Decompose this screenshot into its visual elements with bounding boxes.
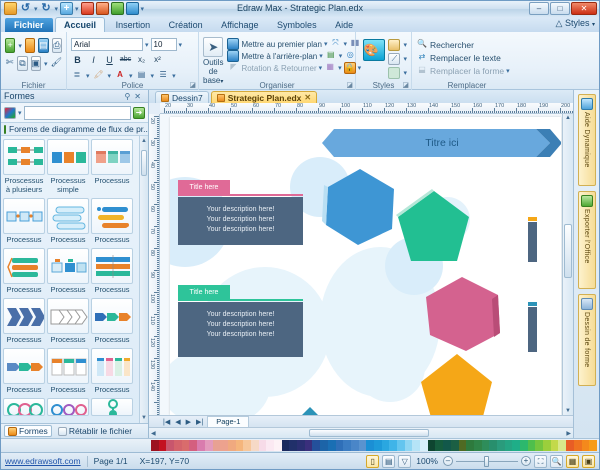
ruler-tick (496, 111, 497, 114)
color-swatch[interactable] (412, 440, 420, 451)
shape-item[interactable]: Proscessus à plusieurs (3, 139, 45, 196)
ruler-tick (454, 111, 455, 114)
ruler-tick (348, 111, 349, 114)
color-swatch[interactable] (351, 440, 359, 451)
color-swatch[interactable] (328, 440, 336, 451)
shape-item[interactable]: Processus (91, 139, 133, 196)
color-swatch[interactable] (174, 440, 182, 451)
color-swatch[interactable] (366, 440, 374, 451)
ruler-tick (306, 111, 307, 114)
shape-item[interactable] (91, 398, 133, 416)
line-style-icon[interactable]: ⟋ (388, 53, 400, 65)
bullets-caret-icon[interactable]: ▾ (172, 72, 176, 80)
ruler-tick (360, 111, 361, 114)
color-swatch[interactable] (482, 440, 490, 451)
color-swatch[interactable] (551, 440, 559, 451)
page-last-button[interactable]: ▶| (195, 418, 204, 426)
align-caret-icon[interactable]: ▾ (151, 72, 155, 80)
color-swatch[interactable] (236, 440, 244, 451)
ruler-label: 50 (149, 184, 155, 190)
send-to-back-item[interactable]: Mettre à l'arrière-plan ▾ ▤ ▾ ◎ (227, 50, 366, 62)
color-swatch[interactable] (589, 440, 597, 451)
group-icon[interactable]: ▤ (325, 50, 337, 62)
color-swatch[interactable] (428, 440, 436, 451)
ruler-tick (268, 111, 269, 114)
highlight-caret-icon[interactable]: ▾ (108, 72, 112, 80)
bold-button[interactable]: B (71, 54, 84, 67)
color-swatch[interactable] (374, 440, 382, 451)
save-file-icon[interactable]: ▤ (38, 38, 49, 53)
remplacer-forme-item[interactable]: ⬓ Remplacer la forme ▾ (416, 64, 518, 77)
ruler-label: 170 (495, 103, 504, 109)
grid-caret-icon[interactable]: ▾ (338, 64, 342, 72)
ruler-tick (157, 414, 160, 415)
ruler-label: 130 (407, 103, 416, 109)
ruler-tick (157, 170, 160, 171)
color-swatch[interactable] (336, 440, 344, 451)
zoom-in-button[interactable]: + (521, 456, 531, 466)
color-swatch[interactable] (305, 440, 313, 451)
remplacer-forme-caret-icon[interactable]: ▾ (506, 67, 510, 75)
color-swatch[interactable] (243, 440, 251, 451)
shape-item[interactable]: Processus (3, 198, 45, 246)
shape-label: Processus (3, 285, 45, 294)
color-swatch[interactable] (512, 440, 520, 451)
zoom-out-button[interactable]: – (443, 456, 453, 466)
color-swatch[interactable] (213, 440, 221, 451)
right-tab-aide-dynamique[interactable]: Aide Dynamique (578, 94, 596, 186)
ruler-tick (226, 111, 227, 114)
group-label-organiser: Organiser (199, 81, 355, 90)
color-swatch[interactable] (205, 440, 213, 451)
ruler-tick (432, 111, 433, 114)
ruler-tick (202, 111, 203, 114)
ruler-tick (462, 111, 463, 114)
ruler-label: 20 (149, 118, 155, 124)
ruler-tick (388, 111, 389, 114)
binoculars-icon: 🔍 (416, 39, 428, 51)
ruler-tick (157, 272, 160, 273)
ribbon-group-police: Arial ▾ 10 ▾ B I U abc x₂ x² ≣ ▾ 🖍 ▾ A ▾… (67, 32, 199, 90)
fill-color-icon[interactable] (388, 39, 400, 51)
color-swatch[interactable] (558, 440, 566, 451)
document-tab-bar: Dessin7 Strategic Plan.edx ✕ (149, 90, 573, 103)
ruler-tick (478, 111, 479, 114)
shape-category-caret-icon[interactable]: ▾ (18, 109, 22, 117)
ruler-tick (328, 111, 329, 114)
styles-dialog-launcher[interactable]: ◪ (402, 81, 409, 89)
ruler-tick (482, 111, 483, 114)
ruler-tick (210, 111, 211, 114)
ruler-tick (157, 240, 160, 241)
cut-icon[interactable]: ✄ (5, 56, 14, 71)
color-swatch[interactable] (574, 440, 582, 451)
print-icon[interactable]: ⎙ (52, 38, 62, 53)
shadow-caret-icon[interactable]: ▾ (403, 69, 407, 77)
strikethrough-button[interactable]: abc (119, 54, 132, 67)
ruler-tick (157, 408, 160, 409)
ribbon-tab-insertion[interactable]: Insertion (108, 18, 159, 33)
ruler-label: 30 (187, 103, 193, 109)
ruler-tick (157, 360, 160, 361)
shape-label: Processus (91, 285, 133, 294)
ruler-tick (212, 111, 213, 114)
shape-item[interactable]: Processus (47, 298, 89, 346)
ruler-tick (464, 111, 465, 114)
align-shapes-icon[interactable]: ⤧ (329, 38, 341, 50)
new-file-icon[interactable]: + (5, 38, 15, 53)
format-painter-icon[interactable]: 🖌 (51, 56, 62, 71)
teal-triangle-shape[interactable] (280, 405, 340, 415)
side-bar-1[interactable] (528, 222, 537, 262)
ruler-tick (157, 256, 160, 257)
position-icon[interactable]: ◎ (344, 50, 356, 62)
ribbon-group-organiser: ➤ Outils de base▾ Mettre au premier plan… (199, 32, 356, 90)
new-file-caret-icon[interactable]: ▾ (18, 42, 22, 50)
shapes-scroll-down-icon[interactable]: ▼ (140, 413, 148, 423)
ruler-tick (157, 174, 160, 175)
remplacer-texte-item[interactable]: ⇄ Remplacer le texte (416, 51, 518, 64)
drawing-page[interactable]: Titre ici Title here Your description he… (170, 117, 561, 415)
green-pentagon-shape[interactable] (395, 189, 473, 265)
zoom-select-icon[interactable]: 🔍 (550, 455, 563, 468)
ribbon-tab-accueil[interactable]: Accueil (55, 17, 105, 33)
ruler-tick (400, 111, 401, 114)
document-tab-close-icon[interactable]: ✕ (304, 92, 311, 104)
orange-pentagon-shape[interactable] (418, 352, 496, 415)
paste-icon[interactable]: ▣ (31, 56, 42, 71)
open-file-icon[interactable] (25, 38, 35, 53)
group-caret-icon[interactable]: ▾ (339, 52, 343, 60)
color-swatch[interactable] (266, 440, 274, 451)
maximize-button[interactable]: □ (550, 2, 570, 15)
search-go-icon[interactable]: ➜ (133, 107, 145, 119)
shapes-scroll-thumb[interactable] (141, 150, 147, 176)
grid-icon[interactable]: ▦ (324, 62, 336, 74)
ruler-tick (157, 238, 160, 239)
ruler-tick (246, 111, 247, 114)
close-button[interactable]: ✕ (571, 2, 597, 15)
canvas-vscroll-thumb[interactable] (564, 224, 572, 278)
ruler-label: 40 (149, 162, 155, 168)
color-swatch[interactable] (397, 440, 405, 451)
ruler-tick (154, 336, 159, 337)
ruler-tick (426, 111, 427, 114)
shape-thumbnail (91, 198, 133, 234)
rotate-flip-item[interactable]: ◤ Rotation & Retourner ▾ ▦ ▾ 🔒 ▾ (227, 62, 366, 74)
filter-icon[interactable]: ▽ (398, 455, 411, 468)
subscript-button[interactable]: x₂ (135, 54, 148, 67)
page-tab-page-1[interactable]: Page-1 (207, 416, 249, 427)
ruler-tick (157, 166, 160, 167)
color-swatch[interactable] (474, 440, 482, 451)
document-tab-strategic-plan[interactable]: Strategic Plan.edx ✕ (211, 91, 317, 103)
shape-item[interactable]: Processus (47, 198, 89, 246)
canvas-scroll-right-icon[interactable]: ▶ (566, 430, 571, 437)
full-screen-icon[interactable]: ▦ (566, 455, 579, 468)
ruler-tick (542, 111, 543, 114)
superscript-button[interactable]: x² (151, 54, 164, 67)
fit-page-icon[interactable]: ⛶ (534, 455, 547, 468)
line-style-caret-icon[interactable]: ▾ (403, 55, 407, 63)
police-dialog-launcher[interactable]: ◪ (189, 81, 196, 89)
shape-library-title[interactable]: Forems de diagramme de flux de pr... (1, 122, 148, 136)
shape-category-icon[interactable] (4, 107, 16, 119)
underline-button[interactable]: U (103, 54, 116, 67)
horizontal-ruler[interactable]: 2030405060708090100110120130140150160170… (160, 103, 573, 114)
color-swatch[interactable] (220, 440, 228, 451)
color-swatch[interactable] (228, 440, 236, 451)
color-swatch[interactable] (343, 440, 351, 451)
ribbon-tab-symboles[interactable]: Symboles (269, 18, 325, 33)
shape-label: Proscessus à plusieurs (3, 176, 45, 194)
ruler-tick (157, 234, 160, 235)
font-color-caret-icon[interactable]: ▾ (129, 72, 133, 80)
blue-hexagon-shape[interactable] (320, 167, 400, 247)
base-tools-button[interactable]: ➤ Outils de base▾ (203, 36, 223, 87)
shapes-search-input[interactable] (24, 106, 131, 120)
shape-thumbnail (91, 248, 133, 284)
page-next-button[interactable]: ▶ (185, 418, 192, 426)
fill-color-caret-icon[interactable]: ▾ (403, 41, 407, 49)
ruler-tick (157, 246, 160, 247)
ruler-tick (157, 128, 160, 129)
ruler-tick (157, 172, 160, 173)
website-link[interactable]: www.edrawsoft.com (5, 456, 81, 466)
shape-item[interactable]: Processus (3, 298, 45, 346)
lock-icon[interactable]: 🔒 (344, 62, 356, 74)
shape-thumbnail (47, 248, 89, 284)
rotate-flip-caret-icon[interactable]: ▾ (319, 64, 323, 72)
color-swatch[interactable] (197, 440, 205, 451)
color-swatch[interactable] (466, 440, 474, 451)
shape-draw-icon (581, 298, 593, 310)
canvas-hscroll-thumb[interactable] (309, 429, 429, 437)
shape-item[interactable]: Processus (91, 298, 133, 346)
shape-label: Processus (3, 335, 45, 344)
color-swatch[interactable] (182, 440, 190, 451)
document-tab-dessin7[interactable]: Dessin7 (155, 91, 209, 103)
font-size-caret-icon[interactable]: ▾ (179, 41, 183, 49)
ruler-tick (364, 111, 365, 114)
ruler-tick (490, 111, 491, 114)
rechercher-item[interactable]: 🔍 Rechercher (416, 38, 518, 51)
color-swatch[interactable] (259, 440, 267, 451)
color-swatch[interactable] (535, 440, 543, 451)
ruler-tick (157, 120, 160, 121)
ruler-tick (234, 111, 235, 114)
page-first-button[interactable]: |◀ (162, 418, 171, 426)
ruler-tick (446, 111, 447, 114)
ruler-tick (157, 184, 160, 185)
ruler-tick (157, 244, 160, 245)
shapes-tab-formes[interactable]: Formes (4, 425, 52, 437)
page-prev-button[interactable]: ◀ (174, 418, 181, 426)
organiser-dialog-launcher[interactable]: ◪ (346, 81, 353, 89)
pin-icon[interactable]: ⚲ (124, 92, 130, 101)
color-swatch[interactable] (289, 440, 297, 451)
presentation-icon[interactable]: ▣ (582, 455, 595, 468)
shape-thumbnail (3, 198, 45, 234)
color-swatch-strip[interactable] (151, 440, 597, 451)
minimize-button[interactable]: – (529, 2, 549, 15)
line-spacing-caret-icon[interactable]: ▾ (86, 72, 90, 80)
align-shapes-caret-icon[interactable]: ▾ (343, 40, 347, 48)
card-1-title[interactable]: Title here (178, 180, 230, 194)
ruler-tick (170, 111, 171, 114)
canvas-scroll-left-icon[interactable]: ◀ (151, 430, 156, 437)
ruler-tick (157, 310, 160, 311)
ruler-tick (336, 111, 337, 114)
shape-item[interactable]: Processus (91, 348, 133, 396)
ruler-tick (284, 111, 285, 114)
page-view-icon[interactable]: ▯ (366, 455, 379, 468)
vertical-ruler[interactable]: 2030405060708090100110120130140 (149, 114, 160, 415)
shapes-scroll-up-icon[interactable]: ▲ (140, 136, 148, 146)
ruler-tick (157, 350, 160, 351)
font-name-input[interactable]: Arial (71, 38, 143, 51)
right-tab-dessin-de-forme[interactable]: Dessin de forme (578, 294, 596, 386)
color-swatch[interactable] (382, 440, 390, 451)
color-swatch[interactable] (282, 440, 290, 451)
ruler-tick (484, 111, 485, 114)
ribbon-tab-aide[interactable]: Aide (327, 18, 361, 33)
ruler-tick (157, 188, 160, 189)
ribbon-tab-affichage[interactable]: Affichage (213, 18, 266, 33)
color-swatch[interactable] (420, 440, 428, 451)
color-swatch[interactable] (489, 440, 497, 451)
canvas-scroll-down-icon[interactable]: ▼ (563, 408, 573, 414)
color-swatch[interactable] (459, 440, 467, 451)
color-swatch[interactable] (443, 440, 451, 451)
shape-grid-wrapper: Proscessus à plusieurs Processus simple … (1, 136, 148, 423)
ruler-tick (157, 324, 160, 325)
side-bar-2[interactable] (528, 307, 537, 352)
ruler-tick (368, 111, 369, 114)
color-swatch[interactable] (189, 440, 197, 451)
ruler-tick (524, 111, 525, 114)
shapes-scrollbar[interactable]: ▲ ▼ (139, 136, 148, 423)
color-swatch[interactable] (497, 440, 505, 451)
color-swatch[interactable] (582, 440, 590, 451)
ruler-tick (157, 186, 160, 187)
color-swatch[interactable] (312, 440, 320, 451)
shape-item[interactable]: Processus (91, 198, 133, 246)
shape-item[interactable]: Processus simple (47, 139, 89, 196)
ruler-tick (410, 111, 411, 114)
font-size-input[interactable]: 10 (151, 38, 177, 51)
ruler-tick (157, 306, 160, 307)
bring-front-caret-icon[interactable]: ▾ (324, 40, 328, 48)
pink-hexagon-shape[interactable] (422, 275, 506, 355)
canvas-row: 2030405060708090100110120130140 (149, 114, 573, 415)
bring-to-front-item[interactable]: Mettre au premier plan ▾ ⤧ ▾ ▮▮ ▾ (227, 38, 366, 50)
shape-item[interactable]: Processus (47, 248, 89, 296)
color-swatch[interactable] (166, 440, 174, 451)
color-swatch[interactable] (251, 440, 259, 451)
styles-quick-link[interactable]: △ Styles ▾ (556, 18, 595, 29)
color-swatch[interactable] (405, 440, 413, 451)
shape-item[interactable] (3, 398, 45, 416)
card-2-title[interactable]: Title here (178, 285, 230, 299)
shape-label: Processus (3, 385, 45, 394)
canvas-horizontal-scrollbar[interactable]: ◀ ▶ (149, 427, 573, 438)
drawing-canvas[interactable]: Titre ici Title here Your description he… (160, 114, 573, 415)
color-swatch[interactable] (159, 440, 167, 451)
color-swatch[interactable] (543, 440, 551, 451)
color-swatch[interactable] (151, 440, 159, 451)
ruler-tick (514, 111, 515, 114)
paste-caret-icon[interactable]: ▾ (44, 60, 48, 68)
color-swatch[interactable] (320, 440, 328, 451)
shadow-icon[interactable] (388, 67, 400, 79)
copy-icon[interactable]: ⧉ (17, 56, 27, 71)
page-navigation-bar: |◀ ◀ ▶ ▶| Page-1 (149, 415, 573, 427)
ruler-tick (157, 404, 160, 405)
ribbon-tab-fichier[interactable]: Fichier (5, 18, 53, 33)
color-swatch[interactable] (451, 440, 459, 451)
theme-icon[interactable]: 🎨 (363, 39, 385, 61)
shapes-tab-restore[interactable]: Rétablir le fichier (55, 425, 135, 437)
ruler-tick (404, 111, 405, 114)
multipage-icon[interactable]: ▤ (382, 455, 395, 468)
ruler-tick (157, 366, 160, 367)
shape-item[interactable] (47, 398, 89, 416)
ruler-tick (304, 111, 305, 114)
ruler-tick (326, 111, 327, 114)
ruler-label: 80 (297, 103, 303, 109)
decor-circle (355, 332, 425, 402)
color-swatch[interactable] (505, 440, 513, 451)
shape-item[interactable]: Processus (3, 348, 45, 396)
canvas-vertical-scrollbar[interactable]: ▲ ▼ (562, 114, 573, 415)
card-1-body[interactable]: Your description here! Your description … (178, 197, 303, 245)
color-swatch[interactable] (520, 440, 528, 451)
ruler-tick (522, 111, 523, 114)
ruler-tick (436, 111, 437, 114)
ruler-tick (502, 111, 503, 114)
color-swatch[interactable] (359, 440, 367, 451)
color-swatch[interactable] (297, 440, 305, 451)
right-tab-exporter-office[interactable]: Exporter l'Office (578, 191, 596, 289)
card-2-body[interactable]: Your description here! Your description … (178, 302, 303, 357)
color-swatch[interactable] (389, 440, 397, 451)
color-swatch[interactable] (435, 440, 443, 451)
shape-item[interactable]: Processus (91, 248, 133, 296)
color-swatch[interactable] (528, 440, 536, 451)
ruler-tick (222, 111, 223, 114)
font-name-caret-icon[interactable]: ▾ (145, 41, 149, 49)
ruler-label: 100 (149, 294, 155, 303)
shape-item[interactable]: Processus (3, 248, 45, 296)
ruler-tick (184, 111, 185, 114)
ruler-tick (422, 111, 423, 114)
ruler-tick (157, 198, 160, 199)
ribbon-tab-creation[interactable]: Création (161, 18, 211, 33)
ruler-tick (157, 406, 160, 407)
zoom-slider-handle[interactable] (484, 456, 489, 467)
close-icon[interactable]: ✕ (134, 92, 141, 101)
send-back-caret-icon[interactable]: ▾ (319, 52, 323, 60)
canvas-scroll-up-icon[interactable]: ▲ (563, 115, 573, 121)
color-swatch[interactable] (274, 440, 282, 451)
zoom-slider[interactable] (456, 461, 518, 462)
shape-item[interactable]: Processus (47, 348, 89, 396)
ruler-tick (157, 222, 160, 223)
italic-button[interactable]: I (87, 54, 100, 67)
ruler-tick (157, 274, 160, 275)
color-swatch[interactable] (566, 440, 574, 451)
